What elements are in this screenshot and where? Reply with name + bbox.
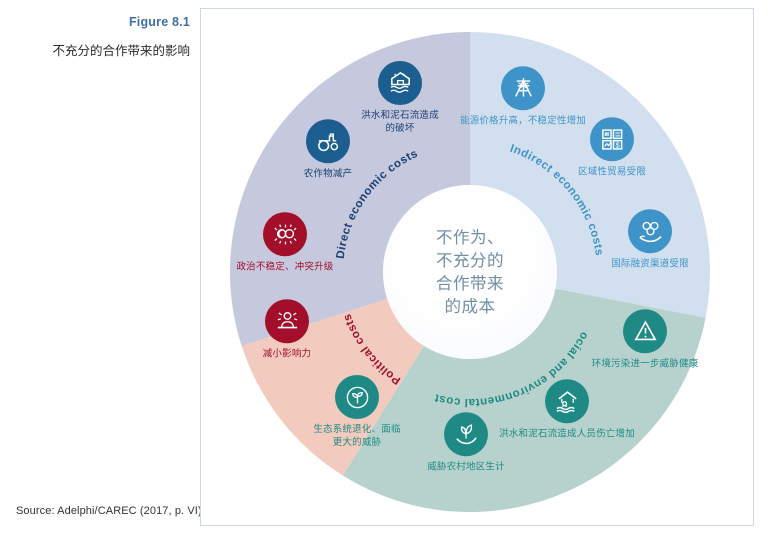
trade-boxes-icon: $ <box>599 126 626 153</box>
node-badge-pollution-health <box>623 309 667 353</box>
tractor-icon <box>315 128 342 155</box>
power-pylon-icon <box>510 75 537 102</box>
node-label-regional-trade: 区域性贸易受限 <box>527 166 697 179</box>
figure-subtitle: 不充分的合作带来的影响 <box>0 42 190 60</box>
node-label-rural-livelihoods: 威胁农村地区生计 <box>381 461 551 474</box>
node-label-crop-loss: 农作物减产 <box>243 168 413 181</box>
node-regional-trade[interactable]: $区域性贸易受限 <box>527 117 697 179</box>
node-label-reduced-influence: 减小影响力 <box>202 348 372 361</box>
node-intl-financing[interactable]: 国际融资渠道受限 <box>565 209 735 271</box>
figure-caption: Figure 8.1 不充分的合作带来的影响 <box>0 14 190 60</box>
figure-label: Figure 8.1 <box>0 14 190 30</box>
node-label-pollution-health: 环境污染进一步威胁健康 <box>560 358 730 371</box>
hand-leaf-icon <box>453 421 480 448</box>
source-note: Source: Adelphi/CAREC (2017, p. VI). <box>16 505 205 517</box>
node-badge-crop-loss <box>306 119 350 163</box>
flooded-house-icon <box>387 70 414 97</box>
node-label-intl-financing: 国际融资渠道受限 <box>565 258 735 271</box>
hub-line: 的成本 <box>445 295 496 318</box>
node-badge-reduced-influence <box>265 299 309 343</box>
node-badge-regional-trade: $ <box>590 117 634 161</box>
node-badge-political-conflict <box>263 212 307 256</box>
node-badge-energy-prices <box>501 66 545 110</box>
node-badge-flood-casualties <box>545 379 589 423</box>
node-crop-loss[interactable]: 农作物减产 <box>243 119 413 181</box>
node-badge-ecosystem-degrade <box>335 375 379 419</box>
conflict-clash-icon <box>272 221 299 248</box>
node-ecosystem-degrade[interactable]: 生态系统退化、面临更大的威胁 <box>292 375 422 449</box>
hand-coins-icon <box>637 218 664 245</box>
node-badge-rural-livelihoods <box>444 412 488 456</box>
sprout-circle-icon <box>344 384 371 411</box>
flood-rescue-icon <box>554 388 581 415</box>
hub-label: 不作为、不充分的合作带来的成本 <box>383 185 557 359</box>
hub-line: 不充分的 <box>436 249 504 272</box>
node-pollution-health[interactable]: 环境污染进一步威胁健康 <box>560 309 730 371</box>
node-label-political-conflict: 政治不稳定、冲突升级 <box>200 261 370 274</box>
svg-text:$: $ <box>615 140 620 149</box>
hub-line: 合作带来 <box>436 272 504 295</box>
node-badge-intl-financing <box>628 209 672 253</box>
node-label-ecosystem-degrade: 生态系统退化、面临更大的威胁 <box>292 424 422 449</box>
node-reduced-influence[interactable]: 减小影响力 <box>202 299 372 361</box>
speaker-podium-icon <box>274 308 301 335</box>
node-political-conflict[interactable]: 政治不稳定、冲突升级 <box>200 212 370 274</box>
warning-triangle-icon <box>632 318 659 345</box>
hub-line: 不作为、 <box>436 226 504 249</box>
